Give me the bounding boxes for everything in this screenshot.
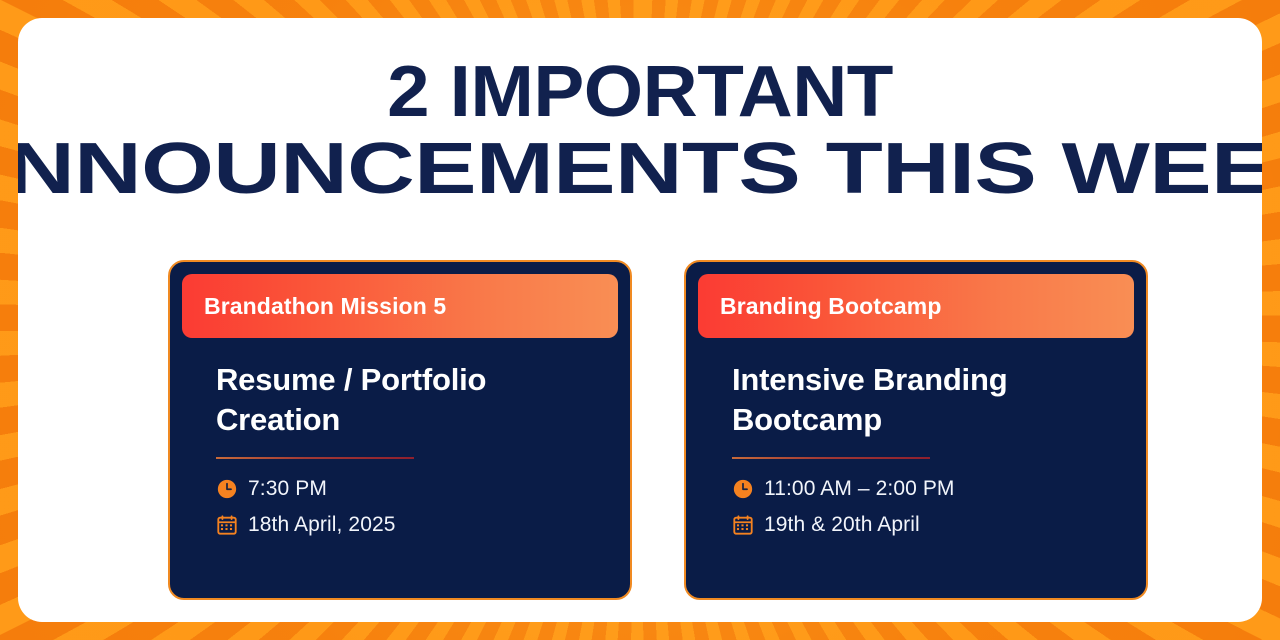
card-title: Resume / Portfolio Creation	[216, 360, 584, 439]
card-badge-brandathon: Brandathon Mission 5	[182, 274, 618, 338]
card-divider	[732, 457, 930, 459]
card-badge-bootcamp: Branding Bootcamp	[698, 274, 1134, 338]
card-meta-time: 7:30 PM	[216, 477, 584, 501]
calendar-icon	[732, 514, 754, 536]
card-meta-date-text: 18th April, 2025	[248, 513, 396, 537]
card-body: Intensive Branding Bootcamp 11:00 AM – 2…	[698, 338, 1134, 537]
card-badge-label: Brandathon Mission 5	[204, 293, 446, 320]
card-meta-date: 19th & 20th April	[732, 513, 1100, 537]
announcement-card-bootcamp[interactable]: Branding Bootcamp Intensive Branding Boo…	[684, 260, 1148, 600]
page-title: 2 IMPORTANT ANNOUNCEMENTS THIS WEEK	[18, 58, 1262, 204]
page-title-line-1: 2 IMPORTANT	[18, 58, 1262, 127]
card-meta-date-text: 19th & 20th April	[764, 513, 920, 537]
page-title-line-2: ANNOUNCEMENTS THIS WEEK	[18, 135, 1262, 204]
card-meta-time-text: 11:00 AM – 2:00 PM	[764, 477, 955, 501]
announcement-cards-row: Brandathon Mission 5 Resume / Portfolio …	[168, 260, 1148, 600]
card-meta-time-text: 7:30 PM	[248, 477, 327, 501]
card-body: Resume / Portfolio Creation 7:30 PM	[182, 338, 618, 537]
white-content-panel: 2 IMPORTANT ANNOUNCEMENTS THIS WEEK Bran…	[18, 18, 1262, 622]
announcement-card-brandathon[interactable]: Brandathon Mission 5 Resume / Portfolio …	[168, 260, 632, 600]
announcement-banner: 2 IMPORTANT ANNOUNCEMENTS THIS WEEK Bran…	[0, 0, 1280, 640]
clock-icon	[216, 478, 238, 500]
card-title: Intensive Branding Bootcamp	[732, 360, 1100, 439]
calendar-icon	[216, 514, 238, 536]
card-badge-label: Branding Bootcamp	[720, 293, 941, 320]
card-meta-list: 7:30 PM	[216, 477, 584, 537]
clock-icon	[732, 478, 754, 500]
card-divider	[216, 457, 414, 459]
card-meta-list: 11:00 AM – 2:00 PM	[732, 477, 1100, 537]
card-meta-time: 11:00 AM – 2:00 PM	[732, 477, 1100, 501]
card-meta-date: 18th April, 2025	[216, 513, 584, 537]
